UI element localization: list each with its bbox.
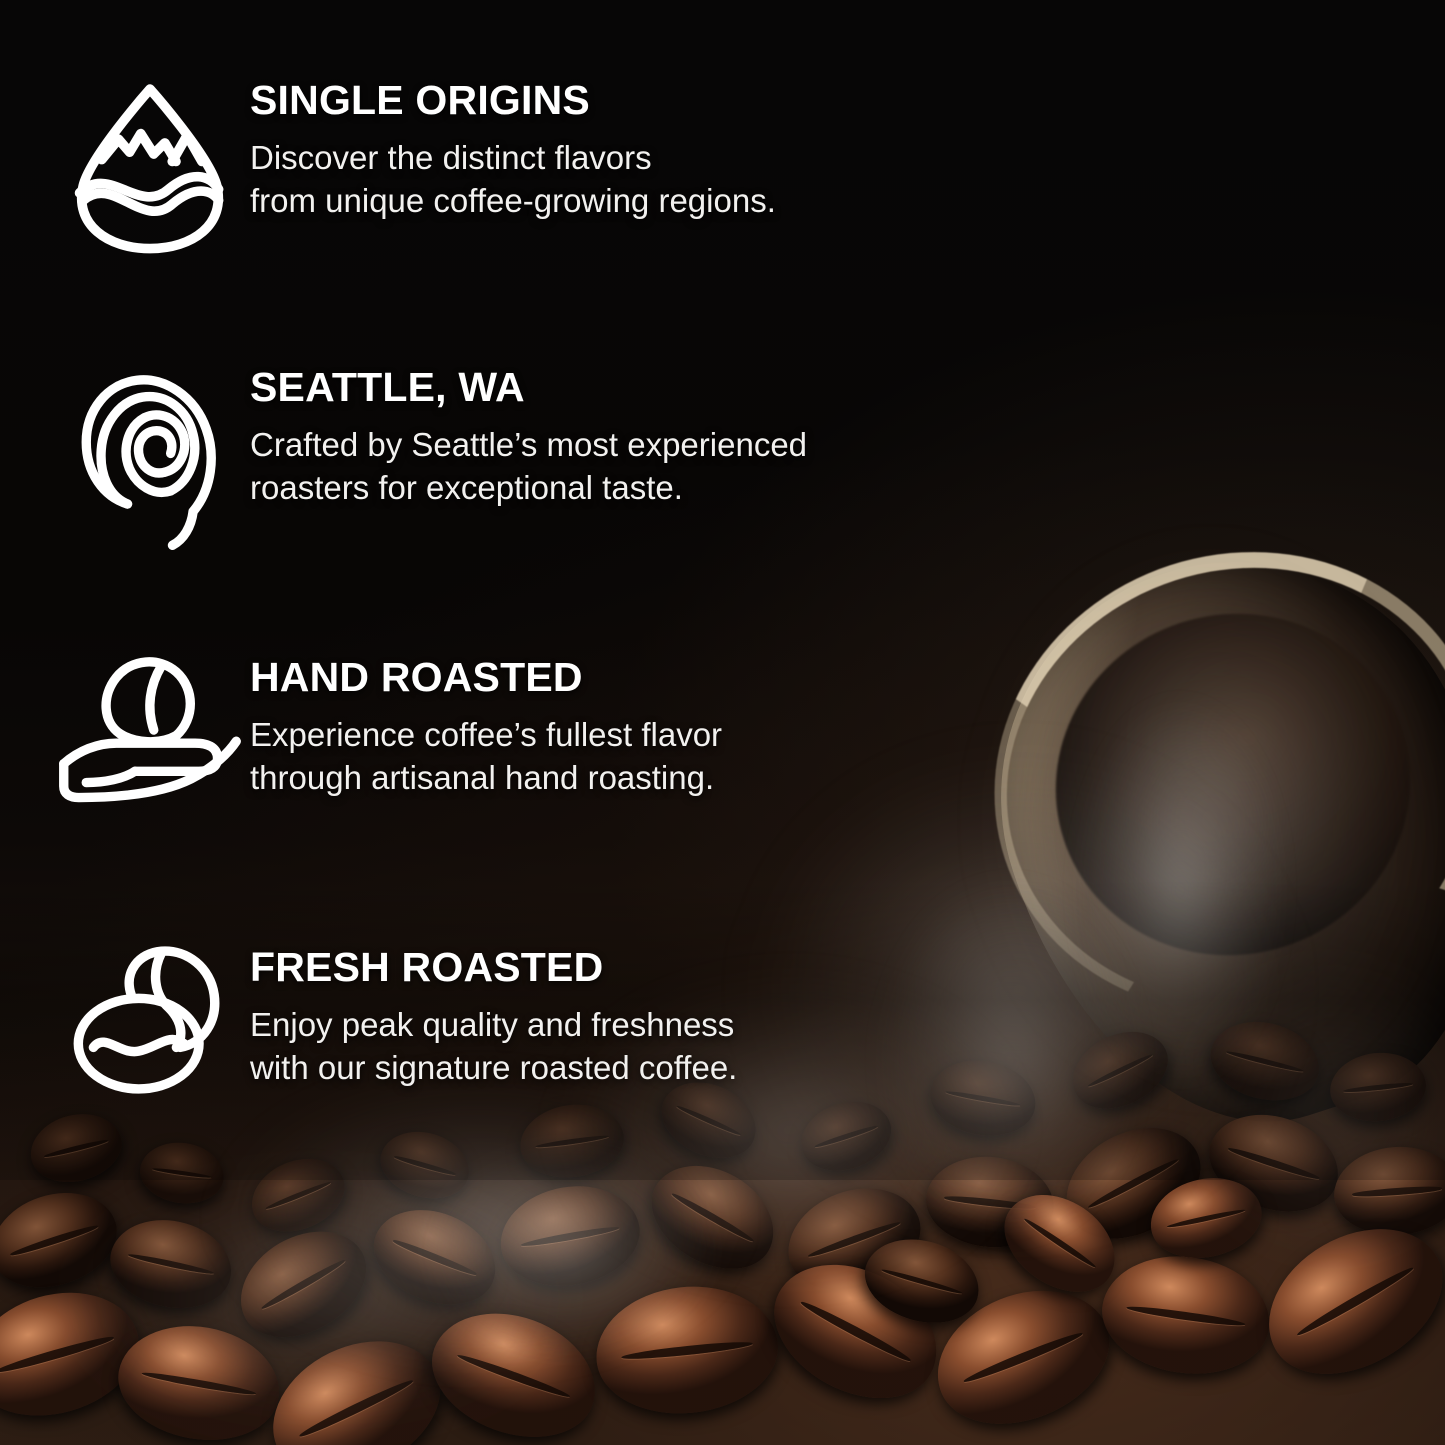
feature-description: Enjoy peak quality and freshness with ou…: [250, 1004, 737, 1090]
feature-description-line: Enjoy peak quality and freshness: [250, 1004, 737, 1047]
feature-text-block: SEATTLE, WA Crafted by Seattle’s most ex…: [250, 365, 807, 510]
feature-description-line: Crafted by Seattle’s most experienced: [250, 424, 807, 467]
feature-text-block: SINGLE ORIGINS Discover the distinct fla…: [250, 78, 776, 223]
feature-title: SEATTLE, WA: [250, 367, 807, 408]
feature-text-block: HAND ROASTED Experience coffee’s fullest…: [250, 655, 722, 800]
feature-title: HAND ROASTED: [250, 657, 722, 698]
feature-description-line: through artisanal hand roasting.: [250, 757, 722, 800]
feature-description: Experience coffee’s fullest flavor throu…: [250, 714, 722, 800]
feature-description-line: from unique coffee-growing regions.: [250, 180, 776, 223]
feature-item-seattle-wa: SEATTLE, WA Crafted by Seattle’s most ex…: [50, 365, 807, 553]
feature-description-line: roasters for exceptional taste.: [250, 467, 807, 510]
feature-description: Crafted by Seattle’s most experienced ro…: [250, 424, 807, 510]
feature-description-line: Experience coffee’s fullest flavor: [250, 714, 722, 757]
two-coffee-beans-icon: [50, 945, 250, 1097]
hand-holding-bean-icon: [50, 655, 250, 805]
feature-list: SINGLE ORIGINS Discover the distinct fla…: [0, 0, 1445, 1445]
product-infographic: SINGLE ORIGINS Discover the distinct fla…: [0, 0, 1445, 1445]
mountain-coffee-bean-icon: [50, 78, 250, 256]
feature-text-block: FRESH ROASTED Enjoy peak quality and fre…: [250, 945, 737, 1090]
feature-description-line: Discover the distinct flavors: [250, 137, 776, 180]
feature-item-hand-roasted: HAND ROASTED Experience coffee’s fullest…: [50, 655, 722, 805]
feature-description: Discover the distinct flavors from uniqu…: [250, 137, 776, 223]
fingerprint-icon: [50, 365, 250, 553]
feature-item-single-origins: SINGLE ORIGINS Discover the distinct fla…: [50, 78, 776, 256]
feature-title: SINGLE ORIGINS: [250, 80, 776, 121]
feature-item-fresh-roasted: FRESH ROASTED Enjoy peak quality and fre…: [50, 945, 737, 1097]
feature-description-line: with our signature roasted coffee.: [250, 1047, 737, 1090]
feature-title: FRESH ROASTED: [250, 947, 737, 988]
